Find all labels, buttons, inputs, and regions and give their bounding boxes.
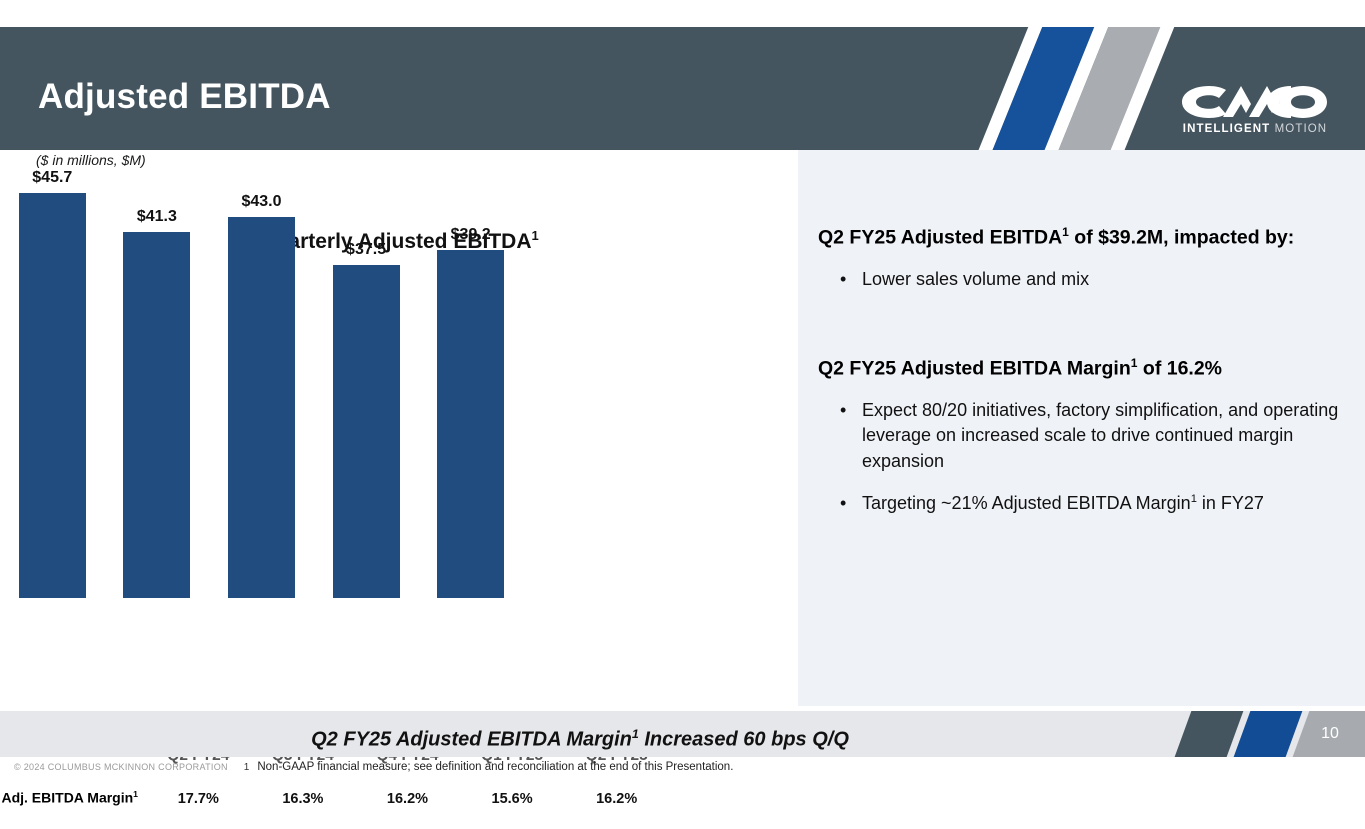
panel-heading-1-before: Q2 FY25 Adjusted EBITDA bbox=[818, 227, 1062, 249]
footer-takeaway-before: Q2 FY25 Adjusted EBITDA Margin bbox=[311, 729, 632, 751]
margin-values: 17.7%16.3%16.2%15.6%16.2% bbox=[146, 791, 669, 807]
panel-bullet-list-2: •Expect 80/20 initiatives, factory simpl… bbox=[818, 398, 1339, 517]
panel-bullet-list-1: •Lower sales volume and mix bbox=[818, 267, 1339, 293]
slide-header: Adjusted EBITDA INTELLIGENT MOTION bbox=[0, 27, 1365, 150]
footer-footnote-marker: 1 bbox=[632, 727, 639, 741]
bar-value-label: $39.2 bbox=[418, 226, 523, 244]
chart-region: Quarterly Adjusted EBITDA1 $45.7$41.3$43… bbox=[0, 150, 798, 706]
panel-heading-2-before: Q2 FY25 Adjusted EBITDA Margin bbox=[818, 357, 1131, 379]
footer-banner: Q2 FY25 Adjusted EBITDA Margin1 Increase… bbox=[0, 711, 1365, 757]
bar-value-label: $45.7 bbox=[0, 169, 105, 187]
list-item: •Expect 80/20 initiatives, factory simpl… bbox=[818, 398, 1339, 475]
margin-row-label-text: Adj. EBITDA Margin bbox=[1, 790, 133, 806]
slide-canvas: Adjusted EBITDA INTELLIGENT MOTION ($ in… bbox=[0, 0, 1365, 829]
list-item-text-after: in FY27 bbox=[1197, 493, 1264, 513]
margin-value: 16.2% bbox=[355, 791, 460, 807]
bar-series: $45.7$41.3$43.0$37.5$39.2 bbox=[0, 150, 523, 598]
footer-stripe-blue bbox=[1234, 711, 1303, 757]
list-item-text: Targeting ~21% Adjusted EBITDA Margin bbox=[862, 493, 1191, 513]
bar-slot: $45.7 bbox=[0, 150, 105, 598]
chart-title-footnote-marker: 1 bbox=[532, 228, 539, 243]
bar-rect bbox=[123, 232, 190, 598]
bullet-icon: • bbox=[840, 398, 846, 424]
margin-row-label: Adj. EBITDA Margin1 bbox=[0, 789, 146, 806]
panel-heading-1-after: of $39.2M, impacted by: bbox=[1069, 227, 1294, 249]
bar-value-label: $43.0 bbox=[209, 193, 314, 211]
margin-data-row: Adj. EBITDA Margin1 17.7%16.3%16.2%15.6%… bbox=[0, 789, 669, 807]
company-logo: INTELLIGENT MOTION bbox=[1179, 82, 1331, 135]
logo-tagline: INTELLIGENT MOTION bbox=[1179, 123, 1331, 135]
bar-rect bbox=[228, 217, 295, 598]
bullet-icon: • bbox=[840, 491, 846, 517]
footnote-text: Non-GAAP financial measure; see definiti… bbox=[257, 761, 733, 773]
bar-rect bbox=[19, 193, 86, 598]
margin-value: 16.2% bbox=[564, 791, 669, 807]
logo-tagline-light: MOTION bbox=[1275, 123, 1328, 135]
page-title: Adjusted EBITDA bbox=[38, 77, 331, 117]
footer-takeaway-text: Q2 FY25 Adjusted EBITDA Margin1 Increase… bbox=[0, 711, 1160, 757]
bar-rect bbox=[437, 250, 504, 598]
panel-heading-2: Q2 FY25 Adjusted EBITDA Margin1 of 16.2% bbox=[818, 355, 1339, 382]
list-item: •Targeting ~21% Adjusted EBITDA Margin1 … bbox=[818, 491, 1339, 517]
list-item-text: Lower sales volume and mix bbox=[862, 269, 1089, 289]
bullet-icon: • bbox=[840, 267, 846, 293]
legal-row: © 2024 COLUMBUS MCKINNON CORPORATION 1 N… bbox=[0, 761, 1365, 773]
bar-value-label: $37.5 bbox=[314, 241, 419, 259]
footer-takeaway-after: Increased 60 bps Q/Q bbox=[639, 729, 849, 751]
bar-value-label: $41.3 bbox=[105, 208, 210, 226]
panel-heading-1: Q2 FY25 Adjusted EBITDA1 of $39.2M, impa… bbox=[818, 224, 1339, 251]
bar-rect bbox=[333, 265, 400, 598]
bar-slot: $39.2 bbox=[418, 150, 523, 598]
logo-tagline-bold: INTELLIGENT bbox=[1183, 123, 1271, 135]
margin-value: 15.6% bbox=[460, 791, 565, 807]
list-item: •Lower sales volume and mix bbox=[818, 267, 1339, 293]
list-item-text: Expect 80/20 initiatives, factory simpli… bbox=[862, 400, 1338, 471]
panel-heading-2-after: of 16.2% bbox=[1137, 357, 1222, 379]
copyright-text: © 2024 COLUMBUS MCKINNON CORPORATION bbox=[14, 762, 228, 772]
page-number: 10 bbox=[1300, 711, 1360, 757]
margin-row-footnote-marker: 1 bbox=[133, 789, 138, 799]
cmco-logo-icon bbox=[1179, 82, 1331, 122]
footer-stripe-dark bbox=[1175, 711, 1244, 757]
footnote-marker: 1 bbox=[244, 762, 250, 773]
bar-slot: $37.5 bbox=[314, 150, 419, 598]
bar-slot: $43.0 bbox=[209, 150, 314, 598]
margin-value: 17.7% bbox=[146, 791, 251, 807]
bar-slot: $41.3 bbox=[105, 150, 210, 598]
commentary-panel: Q2 FY25 Adjusted EBITDA1 of $39.2M, impa… bbox=[798, 150, 1365, 706]
panel-heading-1-footnote-marker: 1 bbox=[1062, 225, 1069, 239]
margin-value: 16.3% bbox=[251, 791, 356, 807]
